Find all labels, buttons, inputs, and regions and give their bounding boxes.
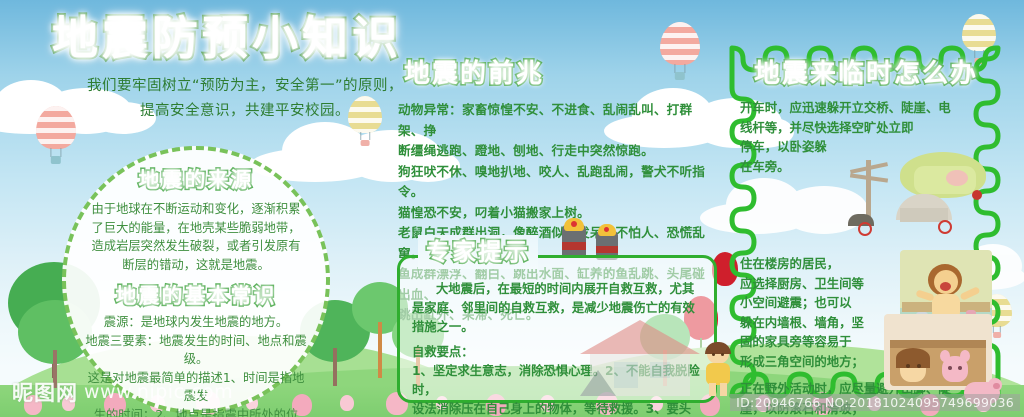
id-watermark: ID:20946766 NO:20181024095749699036 xyxy=(730,394,1020,411)
poster-canvas: 地震防预小知识 我们要牢固树立“预防为主，安全第一”的原则，提高安全意识，共建平… xyxy=(0,0,1024,417)
basics-title: 地震的基本常识 xyxy=(82,281,310,311)
action-line: 开车时，应迅速躲开立交桥、陡崖、电 xyxy=(740,98,992,118)
collapsed-house-illustration xyxy=(580,300,700,396)
precursor-line: 断缰绳逃跑、蹬地、刨地、行走中突然惊跑。 xyxy=(398,141,714,162)
site-watermark-cn: 昵图网 xyxy=(12,377,78,407)
basics-line: 地震三要素：地震发生的时间、地点和震级。 xyxy=(84,332,308,369)
action-line: 小空间避震；也可以 xyxy=(740,293,900,313)
expert-panel-title: 专家提示 xyxy=(426,235,530,269)
source-panel-body: 由于地球在不断运动和变化，逐渐积累了巨大的能量，在地壳某些脆弱地带，造成岩层突然… xyxy=(82,200,310,274)
source-panel: 地震的来源 由于地球在不断运动和变化，逐渐积累了巨大的能量，在地壳某些脆弱地带，… xyxy=(62,146,330,414)
precursor-line: 狗狂吠不休、嗅地扒地、咬人、乱跑乱闹，警犬不听指令。 xyxy=(398,162,714,203)
action-block-2: 住在楼房的居民， 应选择厨房、卫生间等 小空间避震；也可以 躲在内墙根、墙角，坚… xyxy=(740,254,900,371)
action-line: 应选择厨房、卫生间等 xyxy=(740,274,900,294)
precursor-panel-title: 地震的前兆 xyxy=(398,56,714,92)
expert-panel-title-wrap: 专家提示 xyxy=(418,235,538,269)
action-line: 线杆等，并尽快选择空旷处立即 xyxy=(740,118,992,138)
source-panel-title: 地震的来源 xyxy=(82,166,310,194)
action-line: 住在楼房的居民， xyxy=(740,254,900,274)
expert-panel: 专家提示 大地震后，在最短的时间内展开自救互救，尤其是家庭、邻里间的自救互救，是… xyxy=(397,255,717,403)
site-watermark-url: www.nipic.com xyxy=(84,381,233,403)
car-collapse-illustration xyxy=(842,150,992,242)
action-line: 固的家具旁等容易于 xyxy=(740,332,900,352)
basics-line: 震源：是地球内发生地震的地方。 xyxy=(84,313,308,332)
action-panel-title: 地震来临时怎么办 xyxy=(740,54,992,94)
intro-text: 我们要牢固树立“预防为主，安全第一”的原则，提高安全意识，共建平安校园。 xyxy=(80,74,410,124)
action-line: 躲在内墙根、墙角，坚 xyxy=(740,313,900,333)
site-watermark: 昵图网 www.nipic.com xyxy=(12,377,233,407)
expert-point-line: 设法消除压在自己身上的物体，等待救援。3、要头脑清 xyxy=(412,400,702,417)
action-panel-content: 地震来临时怎么办 开车时，应迅速躲开立交桥、陡崖、电 线杆等，并尽快选择空旷处立… xyxy=(740,54,992,394)
basics-line: 生的时间；2、地点是指震中所处的位置； xyxy=(84,406,308,417)
action-panel: 地震来临时怎么办 开车时，应迅速躲开立交桥、陡崖、电 线杆等，并尽快选择空旷处立… xyxy=(722,38,1008,406)
action-line: 形成三角空间的地方； xyxy=(740,352,900,372)
page-title: 地震防预小知识 xyxy=(52,10,402,66)
precursor-line: 动物异常：家畜惊惶不安、不进食、乱闹乱叫、打群架、挣 xyxy=(398,100,714,141)
child-mascot-illustration xyxy=(700,344,736,396)
balloon-pink-left xyxy=(36,106,76,164)
